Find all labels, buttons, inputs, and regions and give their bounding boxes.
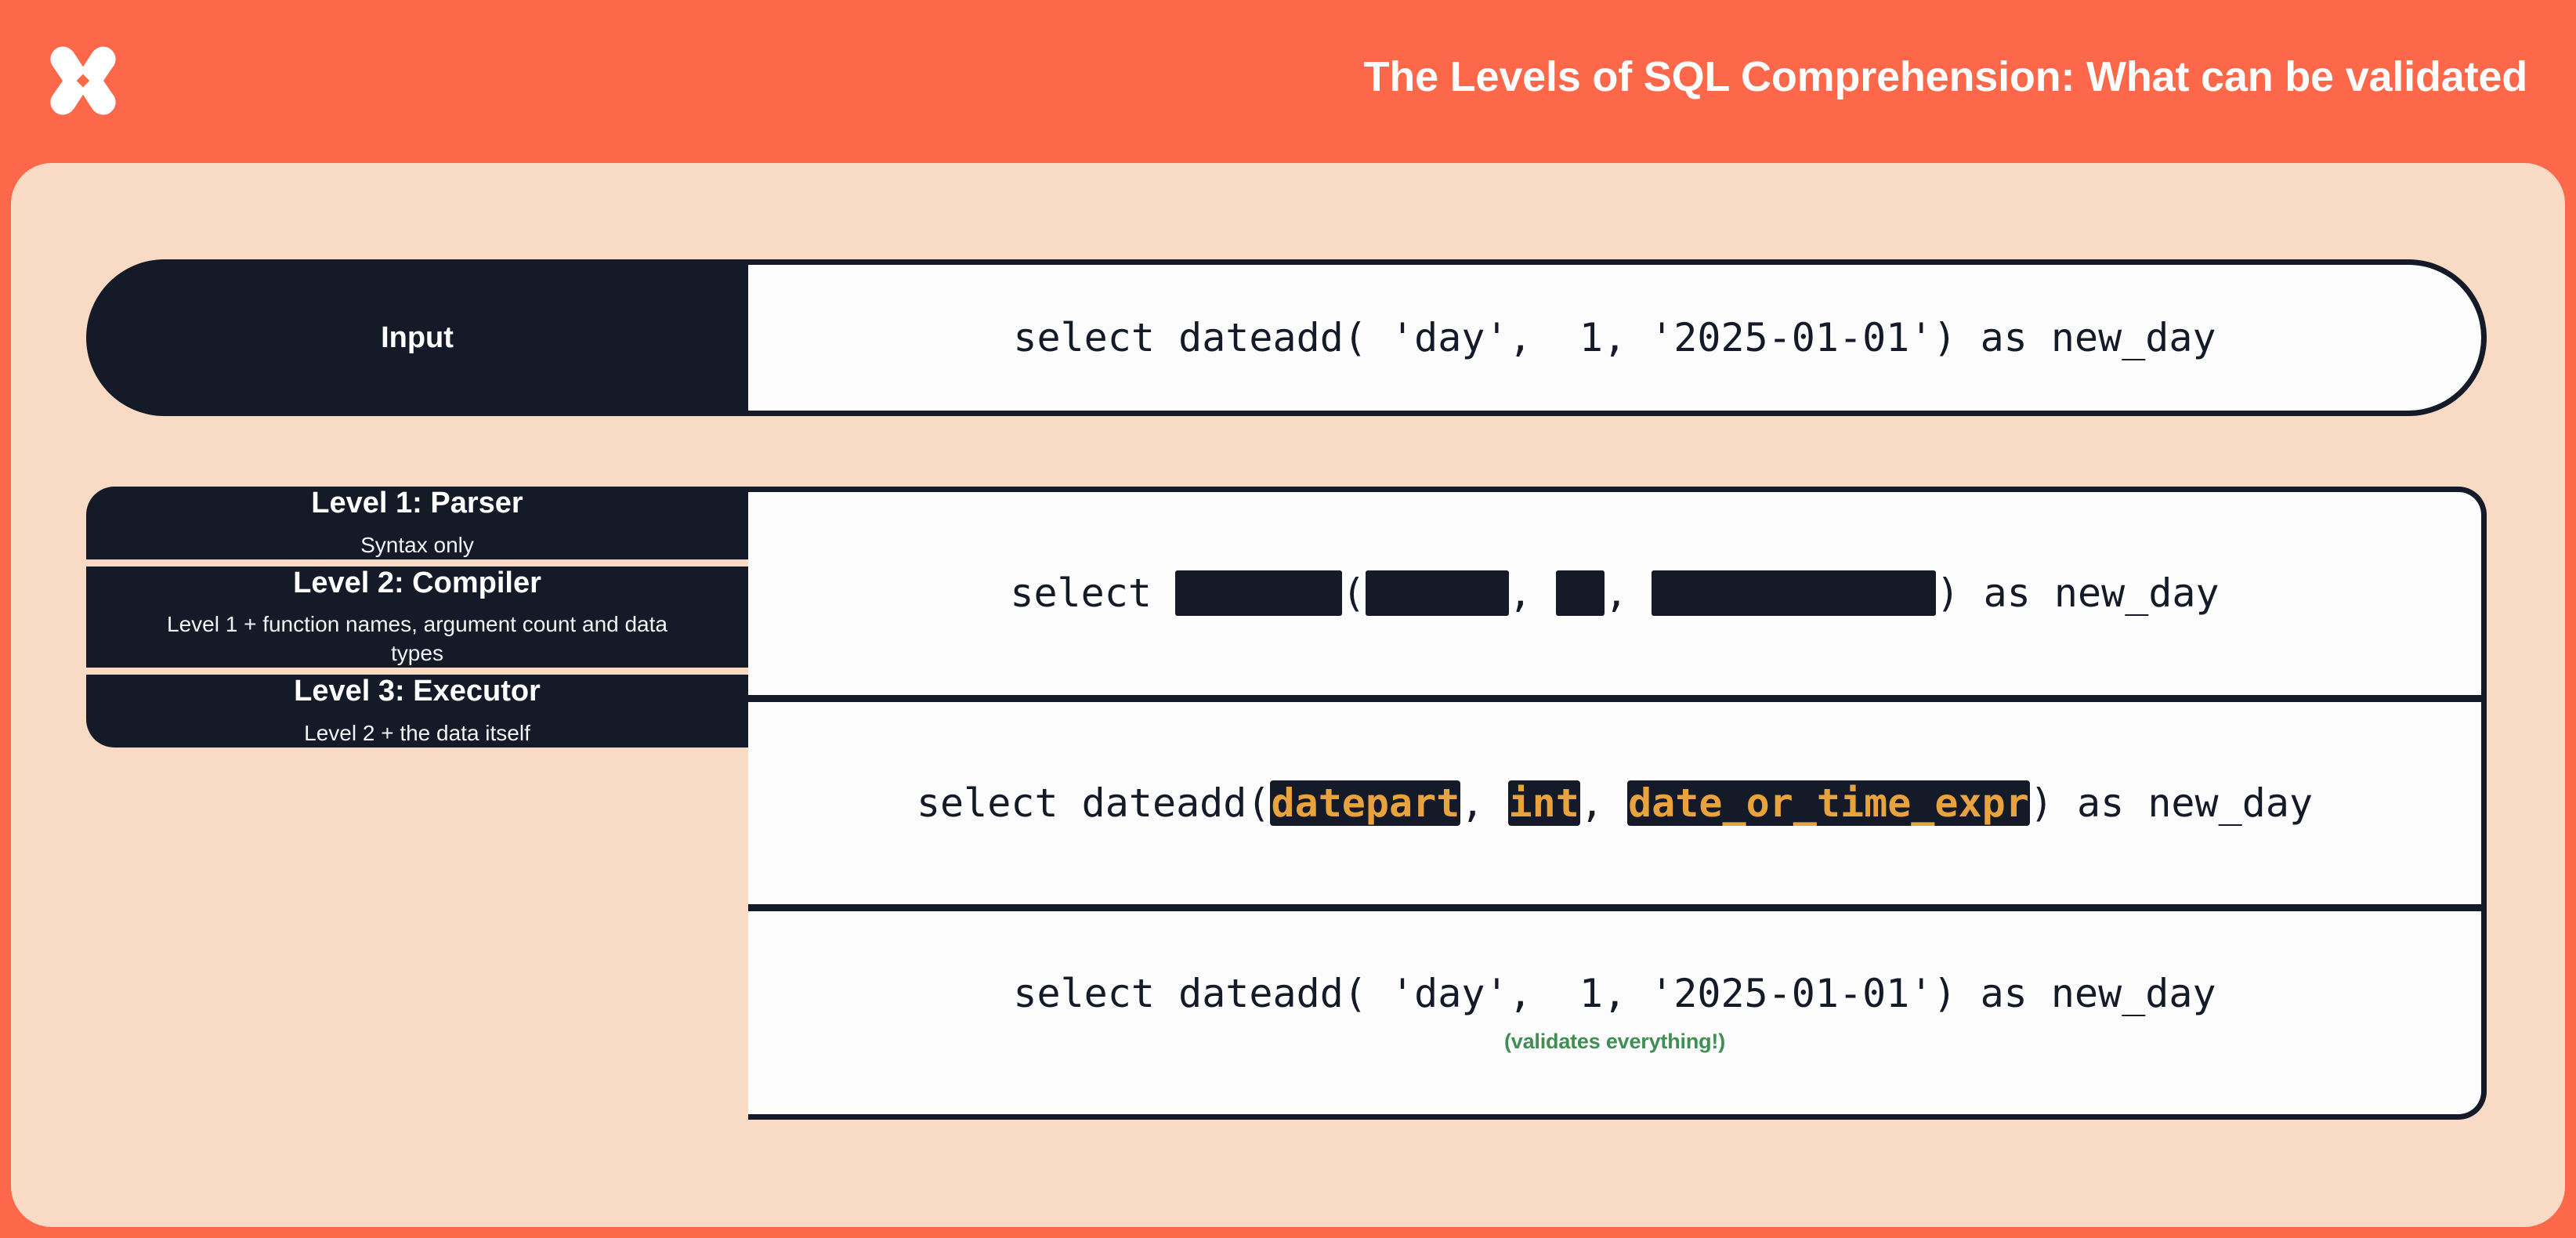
validates-everything-note: (validates everything!) [1504, 1030, 1725, 1054]
highlighted-token: datepart [1270, 780, 1460, 826]
page-title: The Levels of SQL Comprehension: What ca… [124, 52, 2527, 104]
level-title: Level 2: Compiler [293, 567, 541, 600]
redacted-token: dateadd [1175, 570, 1342, 616]
level-label-1: Level 1: Parser Syntax only [86, 487, 748, 559]
level-label-3: Level 3: Executor Level 2 + the data its… [86, 675, 748, 748]
level-subtitle: Syntax only [360, 531, 474, 559]
levels-code-column: select dateadd( 'day', 1, '2025-01-01') … [748, 487, 2487, 1120]
content-panel: Input select dateadd( 'day', 1, '2025-01… [11, 163, 2565, 1227]
page-header: The Levels of SQL Comprehension: What ca… [0, 0, 2576, 157]
code-token: , [1580, 780, 1627, 826]
level-code-cell-2: select dateadd(datepart, int, date_or_ti… [748, 702, 2481, 912]
levels-table: Level 1: Parser Syntax only Level 2: Com… [86, 487, 2487, 1120]
code-token: ) as new_day [1936, 570, 2219, 616]
code-token: select [1010, 570, 1175, 616]
level-title: Level 3: Executor [294, 675, 541, 708]
x-star-logo-icon [42, 40, 124, 121]
redacted-token: 'day' [1366, 570, 1509, 616]
level-subtitle: Level 2 + the data itself [304, 719, 530, 748]
code-token: select dateadd( 'day', 1, '2025-01-01') … [1013, 315, 2216, 360]
level-sql-code: select dateadd( 'day', 1, '2025-01-01') … [1013, 972, 2216, 1015]
input-sql-code: select dateadd( 'day', 1, '2025-01-01') … [1013, 317, 2216, 360]
level-code-cell-3: select dateadd( 'day', 1, '2025-01-01') … [748, 911, 2481, 1114]
redacted-token: '2025-01-01' [1652, 570, 1936, 616]
redacted-token: 1 [1556, 570, 1605, 616]
level-label-2: Level 2: Compiler Level 1 + function nam… [86, 567, 748, 668]
label-divider [86, 668, 748, 675]
label-divider [86, 559, 748, 567]
level-subtitle: Level 1 + function names, argument count… [143, 610, 692, 668]
code-token: ) as new_day [2030, 780, 2313, 826]
levels-label-column: Level 1: Parser Syntax only Level 2: Com… [86, 487, 748, 1120]
code-token: , [1460, 780, 1507, 826]
level-sql-code: select dateadd( 'day', 1, '2025-01-01') … [1010, 572, 2219, 615]
input-row-label: Input [86, 259, 748, 416]
code-token: select dateadd( 'day', 1, '2025-01-01') … [1013, 971, 2216, 1016]
code-token: , [1509, 570, 1556, 616]
input-row: Input select dateadd( 'day', 1, '2025-01… [86, 259, 2487, 416]
level-title: Level 1: Parser [311, 487, 523, 520]
highlighted-token: int [1508, 780, 1580, 826]
code-token: , [1605, 570, 1652, 616]
level-code-cell-1: select dateadd( 'day', 1, '2025-01-01') … [748, 492, 2481, 702]
input-row-code-cell: select dateadd( 'day', 1, '2025-01-01') … [748, 259, 2487, 416]
code-token: select dateadd( [917, 780, 1271, 826]
level-sql-code: select dateadd(datepart, int, date_or_ti… [917, 782, 2313, 825]
infographic-page: The Levels of SQL Comprehension: What ca… [0, 0, 2576, 1238]
code-token: ( [1342, 570, 1366, 616]
highlighted-token: date_or_time_expr [1627, 780, 2030, 826]
